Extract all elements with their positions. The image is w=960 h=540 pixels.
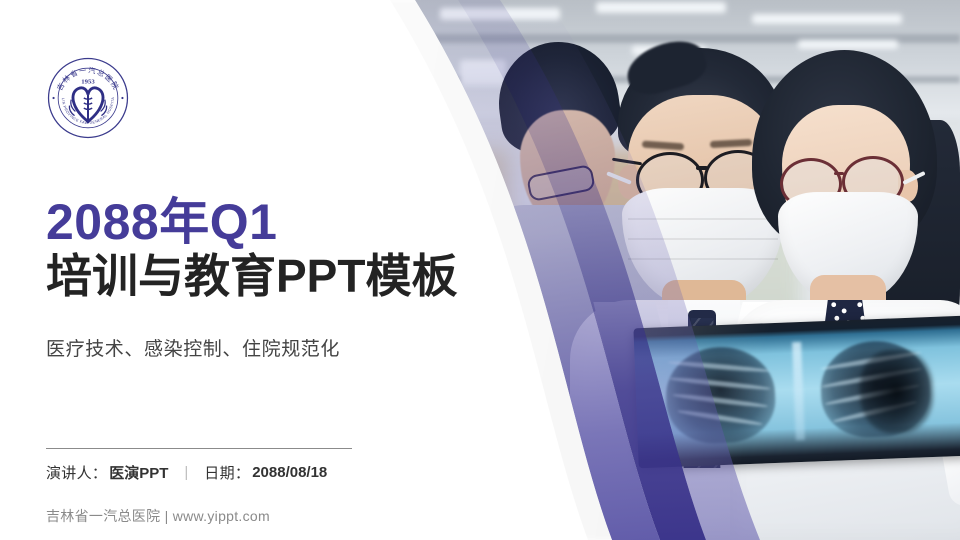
- title-block: 2088年Q1 培训与教育PPT模板: [46, 196, 516, 302]
- slide-root: 吉林省一汽总医院 JILIN PROVINCE FAW GENERAL HOSP…: [0, 0, 960, 540]
- footer-divider: [46, 448, 352, 449]
- left-content-panel: 吉林省一汽总医院 JILIN PROVINCE FAW GENERAL HOSP…: [0, 0, 420, 540]
- ceiling-light: [752, 14, 902, 24]
- logo-year: 1953: [81, 79, 95, 86]
- title-line-2: 培训与教育PPT模板: [46, 250, 516, 302]
- person-b-glasses-bridge: [696, 166, 708, 170]
- ceiling-light: [596, 2, 726, 13]
- date-label: 日期：: [204, 462, 250, 483]
- speaker-label: 演讲人：: [46, 462, 107, 483]
- footer-note: 吉林省一汽总医院 | www.yippt.com: [46, 506, 270, 526]
- ceiling-light: [798, 40, 898, 49]
- subtitle: 医疗技术、感染控制、住院规范化: [46, 334, 340, 361]
- person-c-glasses-bridge: [834, 172, 844, 175]
- title-line-1: 2088年Q1: [46, 196, 516, 248]
- xray-shadow-region: [859, 348, 935, 435]
- meta-separator: |: [184, 464, 188, 481]
- presenter-meta: 演讲人： 医演PPT | 日期： 2088/08/18: [46, 462, 327, 483]
- speaker-value: 医演PPT: [109, 462, 168, 483]
- hospital-logo: 吉林省一汽总医院 JILIN PROVINCE FAW GENERAL HOSP…: [46, 56, 130, 140]
- date-value: 2088/08/18: [252, 464, 327, 481]
